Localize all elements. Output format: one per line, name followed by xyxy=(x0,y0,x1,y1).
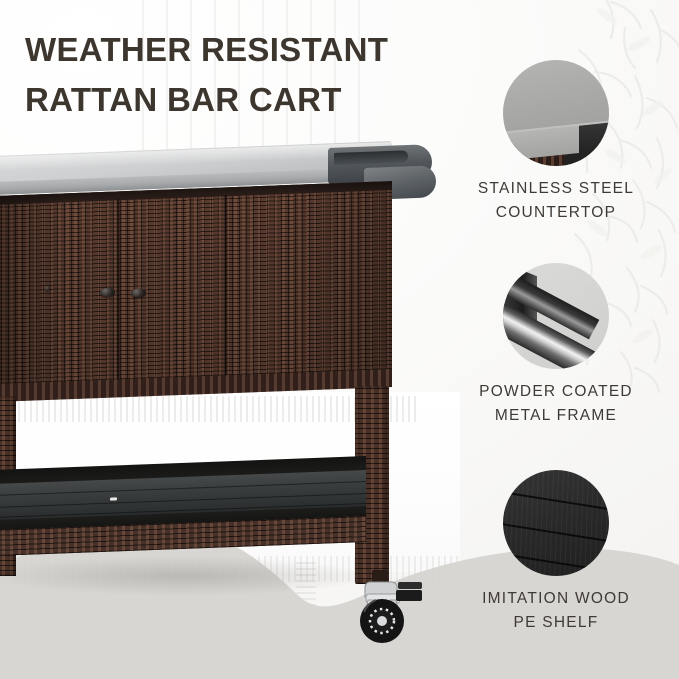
feature-stainless-steel-countertop: STAINLESS STEEL COUNTERTOP xyxy=(456,60,656,226)
page-title: WEATHER RESISTANT RATTAN BAR CART xyxy=(25,25,475,125)
locking-swivel-caster xyxy=(350,568,430,648)
feature-caption-line-2: COUNTERTOP xyxy=(456,201,656,225)
headline-line-1: WEATHER RESISTANT xyxy=(25,25,475,75)
metal-tube-closeup-icon xyxy=(503,263,609,369)
cabinet-door-seam-right xyxy=(224,195,228,383)
cabinet-shading xyxy=(0,181,392,392)
caster-axle-cap xyxy=(377,616,387,626)
cabinet-door-seam-left xyxy=(116,199,120,387)
wood-plank-closeup-icon xyxy=(503,470,609,576)
feature-imitation-wood-pe-shelf: IMITATION WOOD PE SHELF xyxy=(456,470,656,636)
feature-caption-line-2: METAL FRAME xyxy=(456,404,656,428)
product-feature-graphic: WEATHER RESISTANT RATTAN BAR CART xyxy=(0,0,679,679)
caster-brake-tab xyxy=(398,582,422,589)
feature-caption-line-2: PE SHELF xyxy=(456,611,656,635)
product-image-bar-cart xyxy=(0,148,444,628)
shelf-screw xyxy=(110,497,117,500)
rattan-cabinet-body xyxy=(0,181,392,392)
feature-caption-line-1: IMITATION WOOD xyxy=(456,587,656,611)
feature-powder-coated-metal-frame: POWDER COATED METAL FRAME xyxy=(456,263,656,429)
feature-caption-line-1: STAINLESS STEEL xyxy=(456,177,656,201)
countertop-corner-closeup-icon xyxy=(503,60,609,166)
shelf-plank-seam-1 xyxy=(0,481,366,496)
feature-caption-line-1: POWDER COATED xyxy=(456,380,656,404)
cart-ground-shadow xyxy=(0,556,378,596)
caster-brake-lever xyxy=(396,590,422,601)
headline-line-2: RATTAN BAR CART xyxy=(25,75,475,125)
